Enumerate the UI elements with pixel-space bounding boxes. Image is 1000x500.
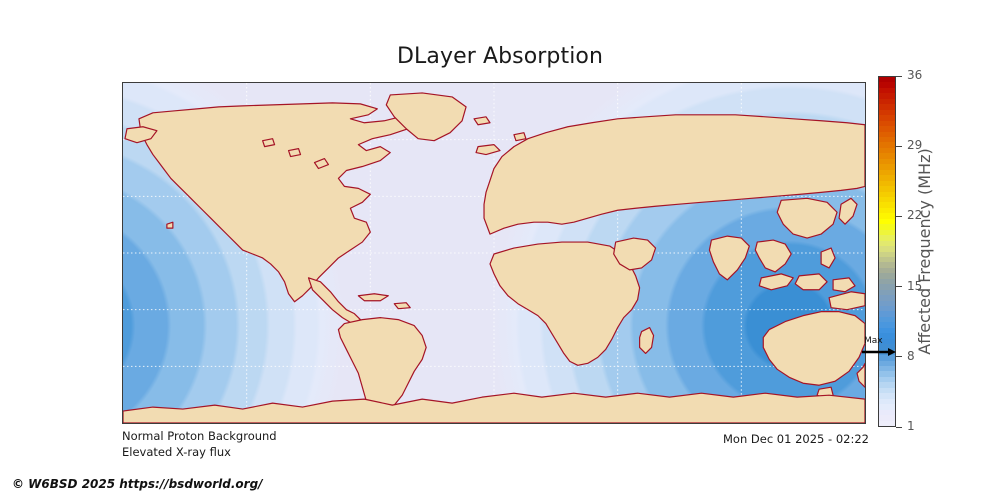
tick-mark	[896, 427, 902, 428]
tick-label: 8	[907, 350, 915, 362]
tick-mark	[896, 356, 902, 357]
colorbar-band	[879, 421, 895, 426]
borneo-path	[795, 274, 827, 290]
map-clip	[123, 83, 865, 423]
map-plot-area[interactable]	[122, 82, 866, 424]
tick-mark	[896, 216, 902, 217]
island-arctic-c-path	[289, 149, 301, 157]
tick-mark	[896, 76, 902, 77]
world-map-svg	[123, 83, 865, 423]
tick-label: 1	[907, 420, 915, 432]
colorbar[interactable]	[878, 76, 896, 427]
svalbard-path	[514, 133, 526, 141]
timestamp: Mon Dec 01 2025 - 02:22	[723, 432, 869, 446]
tick-mark	[896, 286, 902, 287]
note-proton-background: Normal Proton Background	[122, 429, 277, 443]
colorbar-axis-label: Affected Frequency (MHz)	[915, 76, 935, 427]
tick-mark	[896, 146, 902, 147]
page-title: DLayer Absorption	[0, 44, 1000, 69]
colorbar-gradient	[878, 76, 896, 427]
app-root: DLayer Absorption	[0, 0, 1000, 500]
copyright-notice: © W6BSD 2025 https://bsdworld.org/	[12, 477, 263, 491]
note-xray-flux: Elevated X-ray flux	[122, 445, 231, 459]
island-arctic-b-path	[263, 139, 275, 147]
